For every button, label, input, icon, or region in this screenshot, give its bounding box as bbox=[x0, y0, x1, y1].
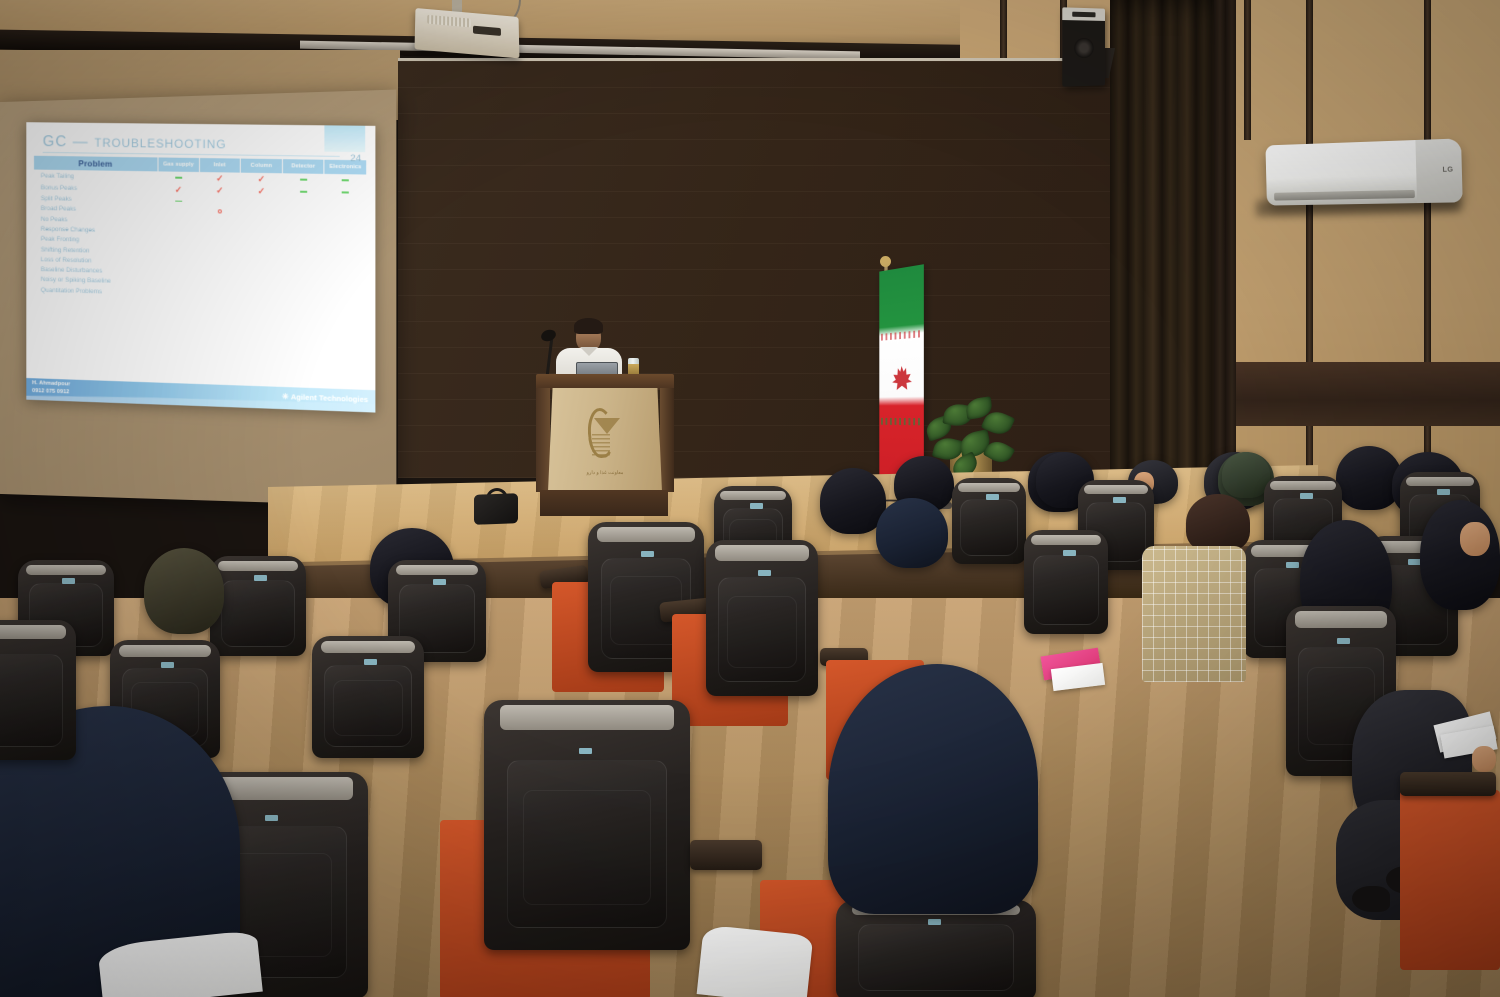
seat-inner-panel bbox=[1033, 555, 1099, 625]
cell-empty bbox=[240, 290, 282, 301]
wall-dark-band bbox=[1190, 362, 1500, 426]
seat-number-tag bbox=[928, 919, 941, 925]
speaker-grill-slot bbox=[1072, 12, 1095, 18]
seat-headrest-band bbox=[720, 491, 786, 500]
attendee-face bbox=[1460, 522, 1490, 556]
seat-number-tag bbox=[62, 578, 75, 584]
seat[interactable] bbox=[484, 700, 690, 950]
cell-empty bbox=[282, 291, 324, 302]
slide: GC — TROUBLESHOOTING 24 ProblemGas suppl… bbox=[26, 122, 375, 412]
pa-speaker bbox=[1062, 7, 1105, 86]
attendee-sleeve bbox=[697, 924, 814, 997]
cell-check: ✓ bbox=[158, 184, 199, 197]
seat-number-tag bbox=[265, 815, 278, 821]
seat-headrest-band bbox=[0, 625, 66, 639]
table-col-gas-supply: Gas supply bbox=[158, 157, 199, 172]
dash-icon bbox=[300, 191, 307, 193]
podium-left-edge bbox=[536, 388, 550, 492]
seat-inner-panel bbox=[523, 790, 651, 905]
seat-headrest-band bbox=[1270, 481, 1336, 490]
speaker-cone bbox=[1074, 38, 1093, 58]
seat-inner-panel bbox=[221, 580, 296, 647]
seat-headrest-band bbox=[1031, 535, 1102, 545]
attendee bbox=[1222, 452, 1270, 498]
dash-icon bbox=[300, 179, 307, 181]
seat-headrest-band bbox=[321, 641, 415, 653]
presenter-hair bbox=[574, 318, 603, 334]
podium-base bbox=[540, 490, 668, 516]
cell-dash bbox=[324, 174, 366, 187]
stage-curtain-secondary bbox=[1214, 0, 1236, 480]
seat-inner-panel bbox=[960, 499, 1018, 557]
cell-dash bbox=[282, 173, 324, 186]
seat-number-tag bbox=[1063, 550, 1076, 556]
cell-empty bbox=[158, 288, 199, 299]
cell-dash bbox=[324, 186, 366, 199]
cell-dash bbox=[158, 196, 199, 207]
cell-check: ✓ bbox=[240, 185, 282, 198]
seat-headrest-band bbox=[1295, 611, 1387, 628]
cell-check: ✓ bbox=[240, 173, 282, 186]
seat[interactable] bbox=[1024, 530, 1108, 634]
projector-port-panel bbox=[473, 26, 501, 36]
seat-headrest-band bbox=[218, 561, 299, 571]
emblem-bars bbox=[592, 434, 610, 456]
podium-caption: معاونت غذا و دارو bbox=[565, 470, 645, 476]
table-col-column: Column bbox=[240, 159, 282, 174]
seat-headrest-band bbox=[715, 545, 809, 561]
cell-check: ✓ bbox=[199, 184, 240, 197]
stage-curtain bbox=[1110, 0, 1218, 520]
seat-armrest bbox=[1400, 772, 1496, 796]
cell-empty bbox=[199, 289, 240, 300]
cell-dash bbox=[158, 171, 199, 184]
check-icon: ✓ bbox=[175, 185, 182, 195]
slide-title-prefix: GC bbox=[43, 133, 68, 150]
slide-title-dash: — bbox=[73, 134, 89, 151]
seat-number-tag bbox=[1337, 638, 1350, 644]
seat-number-tag bbox=[641, 551, 654, 557]
cell-empty bbox=[199, 197, 240, 208]
seat[interactable] bbox=[836, 900, 1036, 997]
seat-inner-panel bbox=[0, 654, 63, 748]
seat[interactable] bbox=[0, 620, 76, 760]
projection-screen: GC — TROUBLESHOOTING 24 ProblemGas suppl… bbox=[26, 122, 375, 412]
check-icon: ✓ bbox=[216, 185, 224, 195]
seat-armrest bbox=[690, 840, 762, 870]
attendee bbox=[876, 498, 948, 568]
floor-bag bbox=[474, 493, 518, 525]
podium-emblem-icon bbox=[580, 404, 628, 466]
seat-headrest-band bbox=[597, 527, 694, 542]
air-conditioner: LG bbox=[1265, 138, 1462, 205]
flag-pole-finial bbox=[880, 256, 891, 267]
ac-louver bbox=[1274, 190, 1415, 201]
agilent-logo: ✳Agilent Technologies bbox=[282, 392, 368, 404]
seat-inner-panel bbox=[333, 680, 402, 736]
cell-check: ✓ bbox=[199, 172, 240, 185]
check-icon: ✓ bbox=[216, 173, 224, 183]
flag-kufic-bottom bbox=[881, 418, 922, 425]
dash-icon bbox=[342, 179, 349, 181]
seat-headrest-band bbox=[500, 705, 673, 730]
slide-title-main: TROUBLESHOOTING bbox=[94, 136, 226, 152]
wall-seam bbox=[1244, 0, 1251, 140]
seat-headrest-band bbox=[1406, 477, 1473, 486]
seat-number-tag bbox=[1113, 497, 1126, 503]
seat-headrest-band bbox=[1084, 485, 1148, 494]
seat[interactable] bbox=[706, 540, 818, 696]
cell-empty bbox=[324, 292, 366, 304]
cell-empty bbox=[282, 198, 324, 209]
ac-brand-label: LG bbox=[1442, 166, 1453, 173]
dash-icon bbox=[175, 200, 182, 202]
table-col-detector: Detector bbox=[282, 159, 324, 174]
podium-right-edge bbox=[660, 388, 674, 492]
seat-number-tag bbox=[364, 659, 377, 665]
seat-headrest-band bbox=[119, 645, 211, 657]
seat-number-tag bbox=[579, 748, 592, 754]
attendee-hair bbox=[1186, 494, 1250, 552]
seat-number-tag bbox=[161, 662, 174, 668]
seat-number-tag bbox=[254, 575, 267, 581]
attendee bbox=[1420, 500, 1500, 610]
table-body: Peak Tailing✓✓Bonus Peaks✓✓✓Split PeaksB… bbox=[34, 170, 367, 304]
agilent-logo-text: Agilent Technologies bbox=[291, 392, 368, 404]
seat-headrest-band bbox=[396, 565, 478, 575]
attendee-shoe bbox=[1352, 886, 1390, 912]
podium-top bbox=[536, 374, 674, 390]
stage-back-panel bbox=[398, 58, 1188, 478]
attendee bbox=[144, 548, 224, 634]
seat-number-tag bbox=[986, 494, 999, 500]
agilent-star-icon: ✳ bbox=[282, 392, 289, 401]
presenter-phone: 0912 075 0912 bbox=[32, 388, 70, 397]
emblem-triangle bbox=[594, 418, 620, 434]
seat[interactable] bbox=[210, 556, 306, 656]
seat-number-tag bbox=[1300, 493, 1313, 499]
conference-hall-scene: LG GC — TROUBLESHOOTING 24 ProblemGas su… bbox=[0, 0, 1500, 997]
seat-cushion bbox=[1400, 790, 1500, 970]
cell-empty bbox=[240, 197, 282, 208]
water-bottle-label bbox=[628, 364, 639, 374]
check-icon: ✓ bbox=[258, 186, 266, 196]
seat-number-tag bbox=[433, 579, 446, 585]
seat-number-tag bbox=[750, 503, 763, 509]
attendee-checkered-shirt bbox=[1142, 546, 1246, 682]
check-icon: ✓ bbox=[258, 174, 266, 184]
seat[interactable] bbox=[952, 478, 1026, 564]
attendee-foreground bbox=[828, 664, 1038, 914]
dash-icon bbox=[175, 177, 182, 179]
ac-right-cap bbox=[1415, 138, 1462, 203]
slide-corner-accent bbox=[324, 125, 365, 152]
flag-kufic-top bbox=[881, 330, 922, 341]
circle-icon bbox=[218, 209, 222, 214]
table-col-inlet: Inlet bbox=[199, 158, 240, 173]
dash-icon bbox=[342, 192, 349, 194]
seat-number-tag bbox=[1437, 489, 1450, 495]
seat-headrest-band bbox=[958, 483, 1020, 492]
troubleshooting-table: ProblemGas supplyInletColumnDetectorElec… bbox=[34, 156, 367, 304]
seat-inner-panel bbox=[727, 596, 796, 668]
presenter-info: H. Ahmadpour 0912 075 0912 bbox=[32, 380, 70, 396]
row-label: Quantitation Problems bbox=[34, 285, 158, 298]
cell-dash bbox=[282, 186, 324, 199]
seat-headrest-band bbox=[26, 565, 107, 575]
slide-number: 24 bbox=[350, 153, 361, 164]
projector-vent bbox=[427, 15, 471, 28]
attendee-hand bbox=[1472, 746, 1496, 772]
seat-inner-panel bbox=[858, 924, 1014, 991]
seat[interactable] bbox=[312, 636, 424, 758]
seat-number-tag bbox=[758, 570, 771, 576]
flag-emblem-icon bbox=[892, 365, 912, 392]
cell-empty bbox=[324, 199, 366, 210]
seat-number-tag bbox=[1286, 562, 1299, 568]
